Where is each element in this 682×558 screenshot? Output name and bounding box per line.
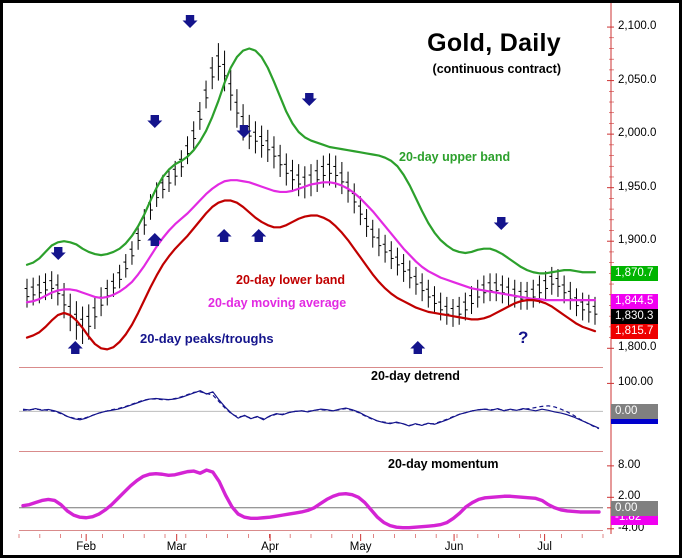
price-value-badge[interactable]: 1,830.3 [611, 309, 658, 324]
arrow-up [147, 233, 162, 246]
arrow-up [217, 229, 232, 242]
month-label: Jul [537, 541, 552, 553]
momentum-label: 20-day momentum [388, 457, 498, 471]
chart-title: Gold, Daily [427, 29, 561, 58]
arrow-down [183, 15, 198, 28]
price-axis-tick-label: 1,900.0 [618, 235, 656, 246]
momentum-axis-tick-label: 8.00 [618, 460, 640, 471]
upper-band-label: 20-day upper band [399, 150, 510, 164]
detrend-value-badge[interactable]: 0.00 [611, 404, 658, 419]
detrend-label: 20-day detrend [371, 369, 460, 383]
price-axis-tick-label: 2,000.0 [618, 128, 656, 139]
arrow-down [51, 247, 66, 260]
month-label: Feb [76, 541, 96, 553]
price-axis-right[interactable]: 2,100.02,050.02,000.01,950.01,900.01,800… [603, 3, 682, 534]
detrend-axis-tick-label: 100.00 [618, 377, 653, 388]
arrow-up [410, 341, 425, 354]
arrow-up [68, 341, 83, 354]
month-label: Apr [261, 541, 279, 553]
month-label: Jun [445, 541, 464, 553]
month-label: Mar [167, 541, 187, 553]
panel-divider-bottom [19, 451, 603, 452]
momentum-panel [19, 458, 603, 534]
panel-divider-top [19, 367, 603, 368]
detrend-panel [19, 375, 603, 445]
detrend-plot-area [19, 375, 603, 445]
momentum-value-badge[interactable]: 0.00 [611, 501, 658, 516]
moving-average-label: 20-day moving average [208, 296, 346, 310]
arrow-down [494, 217, 509, 230]
price-value-badge[interactable]: 1,844.5 [611, 294, 658, 309]
series-momentum [23, 470, 599, 528]
arrow-up [251, 229, 266, 242]
price-axis-tick-label: 1,950.0 [618, 182, 656, 193]
time-axis-bottom[interactable]: FebMarAprMayJunJul [3, 534, 682, 558]
question-mark-label: ? [518, 328, 528, 348]
price-value-badge[interactable]: 1,870.7 [611, 266, 658, 281]
month-label: May [350, 541, 372, 553]
price-axis-tick-label: 2,100.0 [618, 21, 656, 32]
lower-band-label: 20-day lower band [236, 273, 345, 287]
peaks-troughs-label: 20-day peaks/troughs [140, 331, 274, 346]
price-value-badge[interactable]: 1,815.7 [611, 324, 658, 339]
chart-subtitle: (continuous contract) [433, 62, 561, 76]
chart-window: Gold, Daily (continuous contract) 20-day… [0, 0, 682, 558]
arrow-down [302, 93, 317, 106]
price-axis-tick-label: 1,800.0 [618, 342, 656, 353]
arrow-down [147, 115, 162, 128]
momentum-plot-area [19, 458, 603, 534]
panel-divider-xaxis [19, 530, 603, 531]
price-axis-tick-label: 2,050.0 [618, 75, 656, 86]
time-axis-ticks [3, 534, 682, 558]
